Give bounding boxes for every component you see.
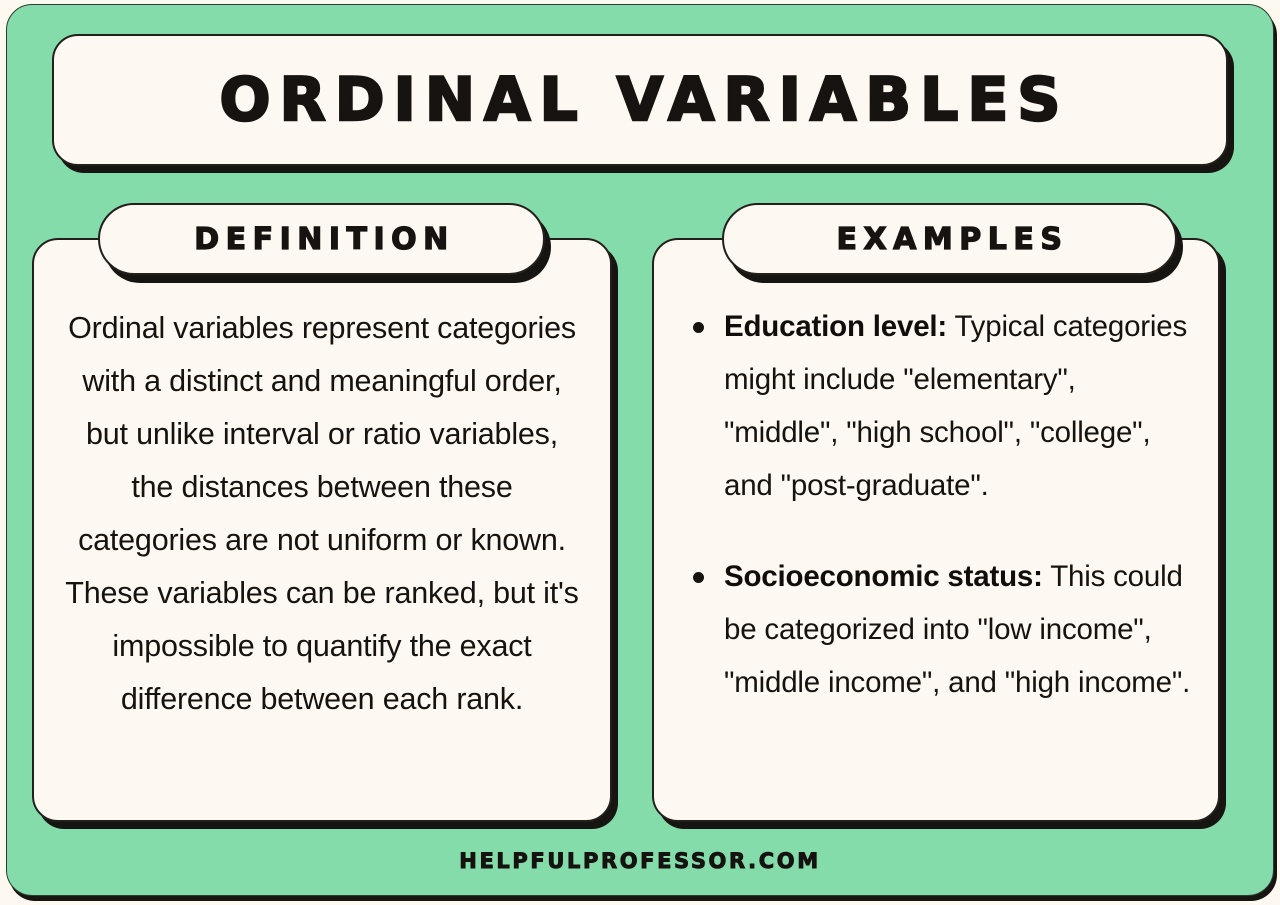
title-card: Ordinal Variables <box>52 34 1228 166</box>
bullet-dot-icon <box>693 322 704 333</box>
examples-list: Education level: Typical categories migh… <box>688 300 1192 709</box>
examples-header-badge: Examples <box>722 203 1177 275</box>
example-term: Education level: <box>724 310 947 343</box>
definition-header-badge: Definition <box>98 203 545 275</box>
definition-body-text: Ordinal variables represent categories w… <box>64 302 580 726</box>
page-title: Ordinal Variables <box>210 70 1069 130</box>
list-item: Socioeconomic status: This could be cate… <box>688 550 1192 709</box>
example-term: Socioeconomic status: <box>724 560 1043 593</box>
definition-card: Ordinal variables represent categories w… <box>32 238 612 822</box>
examples-header-label: Examples <box>831 222 1069 257</box>
infographic-poster: Ordinal Variables Ordinal variables repr… <box>0 0 1280 905</box>
bullet-dot-icon <box>693 572 704 583</box>
definition-header-label: Definition <box>188 222 455 257</box>
footer: helpfulprofessor.com <box>0 849 1280 873</box>
examples-card: Education level: Typical categories migh… <box>652 238 1220 822</box>
list-item: Education level: Typical categories migh… <box>688 300 1192 512</box>
footer-site-label: helpfulprofessor.com <box>459 849 820 873</box>
